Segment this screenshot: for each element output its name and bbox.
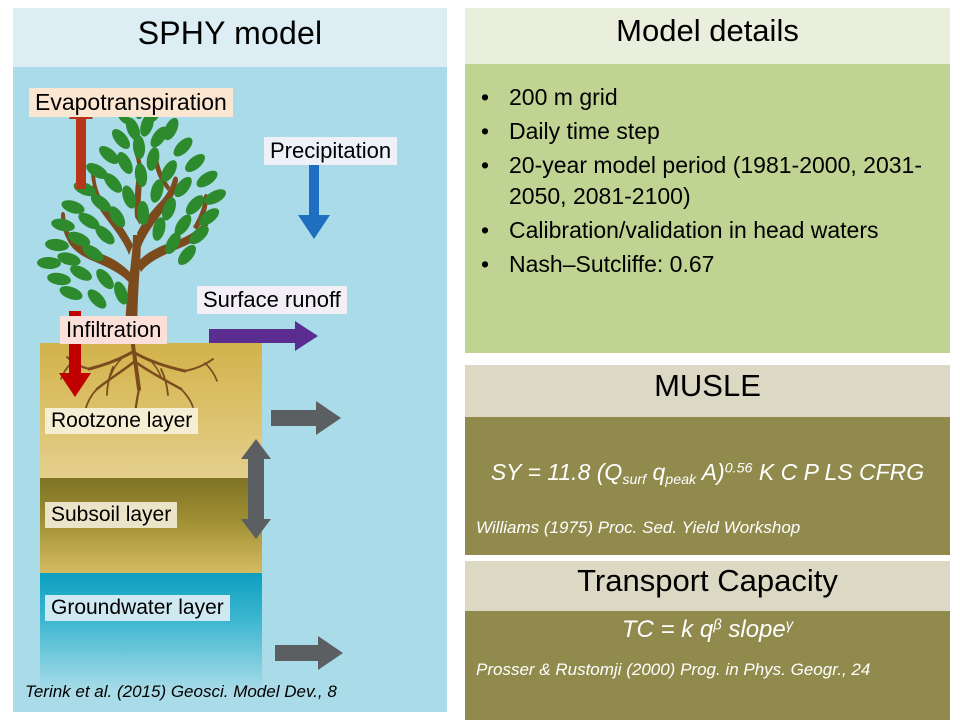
list-item: Nash–Sutcliffe: 0.67 — [505, 249, 936, 280]
percolation-double-arrow — [241, 439, 271, 539]
rootzone-outflow-arrow — [271, 401, 341, 435]
transport-capacity-header: Transport Capacity — [465, 561, 950, 611]
model-details-title: Model details — [465, 13, 950, 49]
precipitation-label: Precipitation — [264, 137, 397, 165]
tc-eq-lhs: TC = k q — [622, 616, 713, 643]
list-item: 200 m grid — [505, 82, 936, 113]
precipitation-arrow — [298, 165, 330, 239]
model-details-list: 200 m grid Daily time step 20-year model… — [465, 64, 950, 280]
musle-header: MUSLE — [465, 365, 950, 417]
list-item: 20-year model period (1981-2000, 2031-20… — [505, 150, 936, 212]
musle-eq-exponent: 0.56 — [725, 461, 753, 477]
infiltration-label: Infiltration — [60, 316, 167, 344]
surface-runoff-arrow — [209, 321, 318, 351]
slide-canvas: SPHY model — [0, 0, 960, 720]
groundwater-layer-label: Groundwater layer — [45, 595, 230, 621]
page-title: SPHY model — [13, 15, 447, 52]
rootzone-layer-label: Rootzone layer — [45, 408, 198, 434]
tc-eq-mid: slope — [722, 616, 786, 643]
musle-eq-lhs: SY = 11.8 (Q — [491, 459, 622, 485]
model-details-body: 200 m grid Daily time step 20-year model… — [465, 64, 950, 353]
tc-eq-beta: β — [713, 617, 722, 633]
sphy-citation: Terink et al. (2015) Geosci. Model Dev.,… — [25, 682, 337, 702]
musle-eq-rhs: K C P LS CFRG — [752, 459, 924, 485]
list-item: Calibration/validation in head waters — [505, 215, 936, 246]
transport-capacity-equation: TC = k qβ slopeγ — [465, 616, 950, 644]
model-details-header: Model details — [465, 8, 950, 64]
musle-citation: Williams (1975) Proc. Sed. Yield Worksho… — [476, 518, 800, 538]
surface-runoff-label: Surface runoff — [197, 286, 347, 314]
sphy-panel-header: SPHY model — [13, 8, 447, 67]
tc-eq-gamma: γ — [786, 617, 793, 633]
musle-eq-mid2: A) — [696, 459, 725, 485]
groundwater-outflow-arrow — [275, 636, 343, 670]
list-item: Daily time step — [505, 116, 936, 147]
musle-eq-mid1: q — [646, 459, 665, 485]
sphy-model-panel: SPHY model — [13, 8, 447, 712]
musle-title: MUSLE — [465, 368, 950, 404]
subsoil-layer-label: Subsoil layer — [45, 502, 177, 528]
evapotranspiration-label: Evapotranspiration — [29, 88, 233, 117]
musle-eq-sub-surf: surf — [622, 472, 646, 488]
sphy-diagram-body: Rootzone layer Subsoil layer Groundwater… — [13, 67, 447, 712]
transport-capacity-body: TC = k qβ slopeγ Prosser & Rustomji (200… — [465, 611, 950, 720]
musle-eq-sub-peak: peak — [665, 472, 696, 488]
musle-equation: SY = 11.8 (Qsurf qpeak A)0.56 K C P LS C… — [465, 459, 950, 488]
transport-capacity-citation: Prosser & Rustomji (2000) Prog. in Phys.… — [476, 659, 906, 680]
model-info-panel: Model details 200 m grid Daily time step… — [465, 8, 950, 712]
transport-capacity-title: Transport Capacity — [465, 563, 950, 599]
musle-body: SY = 11.8 (Qsurf qpeak A)0.56 K C P LS C… — [465, 417, 950, 555]
